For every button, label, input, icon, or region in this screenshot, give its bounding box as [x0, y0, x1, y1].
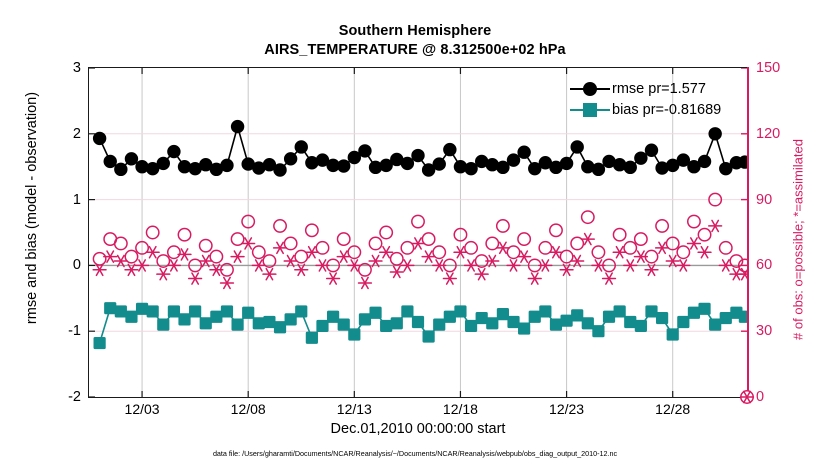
bias-marker — [402, 306, 413, 317]
obs-possible-marker — [168, 246, 180, 258]
bias-marker — [582, 318, 593, 329]
rmse-marker — [284, 153, 296, 165]
obs-possible-marker — [550, 224, 562, 236]
obs-possible-marker — [698, 228, 710, 240]
rmse-marker — [412, 149, 424, 161]
rmse-marker — [274, 164, 286, 176]
rmse-marker — [231, 120, 243, 132]
bias-marker — [444, 311, 455, 322]
obs-possible-marker — [656, 220, 668, 232]
obs-assimilated-marker — [738, 269, 747, 280]
rmse-marker — [560, 157, 572, 169]
bias-marker — [136, 303, 147, 314]
obs-possible-marker — [518, 233, 530, 245]
bias-marker — [105, 303, 116, 314]
obs-possible-marker — [306, 224, 318, 236]
obs-possible-marker — [274, 220, 286, 232]
chart-title: Southern Hemisphere AIRS_TEMPERATURE @ 8… — [0, 22, 830, 60]
bias-marker — [296, 306, 307, 317]
obs-assimilated-marker — [603, 273, 616, 284]
bias-marker — [476, 312, 487, 323]
bias-marker — [359, 314, 370, 325]
bias-marker — [274, 322, 285, 333]
bias-marker — [678, 316, 689, 327]
bias-marker — [455, 306, 466, 317]
obs-possible-marker — [677, 246, 689, 258]
bias-marker — [391, 318, 402, 329]
bias-marker — [572, 310, 583, 321]
rmse-marker — [624, 161, 636, 173]
bias-marker — [656, 312, 667, 323]
rmse-marker — [465, 162, 477, 174]
obs-possible-marker — [497, 220, 509, 232]
rmse-marker — [571, 141, 583, 153]
rmse-marker — [592, 163, 604, 175]
obs-possible-marker — [380, 226, 392, 238]
bias-marker — [465, 320, 476, 331]
bias-marker — [635, 320, 646, 331]
obs-possible-marker — [720, 242, 732, 254]
bias-marker — [625, 316, 636, 327]
legend-item-bias: bias pr=-0.81689 — [570, 99, 721, 120]
obs-assimilated-marker — [698, 247, 711, 258]
bias-marker — [370, 307, 381, 318]
bias-marker — [434, 319, 445, 330]
obs-possible-marker — [369, 237, 381, 249]
bias-marker — [550, 319, 561, 330]
legend-label: bias pr=-0.81689 — [610, 102, 721, 118]
obs-possible-marker — [115, 237, 127, 249]
obs-possible-marker — [125, 250, 137, 262]
bias-marker — [423, 331, 434, 342]
bias-marker — [158, 319, 169, 330]
obs-assimilated-marker — [189, 273, 202, 284]
bias-marker — [699, 303, 710, 314]
x-axis-tick-12-13: 12/13 — [337, 401, 372, 417]
bias-marker — [540, 306, 551, 317]
obs-possible-marker — [146, 226, 158, 238]
bias-marker — [327, 311, 338, 322]
obs-possible-marker — [592, 246, 604, 258]
bias-marker — [200, 318, 211, 329]
obs-assimilated-marker — [263, 269, 276, 280]
obs-possible-marker — [284, 237, 296, 249]
chart-page: Southern Hemisphere AIRS_TEMPERATURE @ 8… — [0, 0, 830, 470]
obs-marker-edge — [737, 387, 757, 407]
obs-assimilated-marker — [507, 260, 520, 271]
bias-marker — [115, 306, 126, 317]
obs-possible-marker — [688, 215, 700, 227]
rmse-marker — [168, 145, 180, 157]
legend-marker-square — [583, 103, 597, 117]
rmse-marker — [338, 160, 350, 172]
obs-possible-marker — [635, 233, 647, 245]
rmse-marker — [359, 145, 371, 157]
bias-marker — [720, 312, 731, 323]
obs-possible-marker — [178, 228, 190, 240]
obs-assimilated-marker — [709, 220, 722, 231]
obs-assimilated-marker — [157, 269, 170, 280]
bias-marker — [179, 314, 190, 325]
bias-marker — [412, 316, 423, 327]
x-axis-tick-12-08: 12/08 — [231, 401, 266, 417]
obs-possible-marker — [338, 233, 350, 245]
bias-marker — [126, 311, 137, 322]
bias-marker — [529, 311, 540, 322]
footer-datafile: data file: /Users/gharamti/Documents/NCA… — [0, 449, 830, 458]
obs-possible-marker — [200, 239, 212, 251]
obs-assimilated-marker — [443, 273, 456, 284]
rmse-marker — [115, 163, 127, 175]
obs-assimilated-marker — [624, 260, 637, 271]
bias-marker — [306, 332, 317, 343]
chart-title-line2: AIRS_TEMPERATURE @ 8.312500e+02 hPa — [0, 41, 830, 60]
rmse-marker — [444, 143, 456, 155]
bias-marker — [497, 308, 508, 319]
rmse-marker — [93, 132, 105, 144]
obs-assimilated-marker — [539, 260, 552, 271]
obs-possible-marker — [433, 246, 445, 258]
right-axis-title: # of obs: o=possible; *=assimilated — [791, 90, 806, 390]
rmse-marker — [401, 157, 413, 169]
bias-marker — [211, 311, 222, 322]
x-axis-tick-12-03: 12/03 — [125, 401, 160, 417]
bias-marker — [381, 320, 392, 331]
bias-marker — [190, 306, 201, 317]
obs-possible-marker — [391, 253, 403, 265]
bias-marker — [667, 329, 678, 340]
bias-marker — [646, 306, 657, 317]
legend-symbol-square — [570, 100, 610, 120]
rmse-marker — [104, 155, 116, 167]
rmse-marker — [507, 154, 519, 166]
bias-marker — [593, 326, 604, 337]
bias-marker — [147, 306, 158, 317]
bias-marker — [94, 337, 105, 348]
obs-possible-marker — [253, 246, 265, 258]
bias-marker — [317, 320, 328, 331]
left-axis-title: rmse and bias (model - observation) — [24, 58, 40, 358]
bias-marker — [487, 318, 498, 329]
bias-marker — [253, 318, 264, 329]
legend-item-rmse: rmse pr=1.577 — [570, 78, 721, 99]
obs-possible-marker — [582, 211, 594, 223]
bias-marker — [614, 306, 625, 317]
x-axis-title: Dec.01,2010 00:00:00 start — [88, 421, 748, 437]
right-axis-tick-150: 150 — [748, 60, 808, 76]
rmse-marker — [698, 155, 710, 167]
obs-possible-marker — [422, 233, 434, 245]
bias-marker — [285, 314, 296, 325]
obs-possible-marker — [210, 250, 222, 262]
bias-marker — [243, 307, 254, 318]
legend-symbol-circle — [570, 79, 610, 99]
right-axis-ticklabels: 1501209060300 — [748, 0, 818, 470]
bias-marker — [688, 307, 699, 318]
obs-possible-marker — [412, 215, 424, 227]
chart-legend: rmse pr=1.577bias pr=-0.81689 — [570, 78, 721, 120]
bias-marker — [519, 323, 530, 334]
bias-marker — [221, 306, 232, 317]
left-axis-tick--2: -2 — [28, 389, 88, 405]
rmse-marker — [645, 144, 657, 156]
bias-marker — [739, 311, 747, 322]
rmse-marker — [295, 141, 307, 153]
chart-title-line1: Southern Hemisphere — [0, 22, 830, 41]
rmse-marker — [739, 156, 747, 168]
rmse-marker — [157, 157, 169, 169]
bias-marker — [232, 319, 243, 330]
rmse-marker — [125, 153, 137, 165]
legend-marker-circle — [583, 82, 597, 96]
x-axis-tick-12-18: 12/18 — [443, 401, 478, 417]
x-axis-tick-12-28: 12/28 — [655, 401, 690, 417]
rmse-marker — [709, 128, 721, 140]
bias-marker — [561, 315, 572, 326]
obs-possible-marker — [613, 228, 625, 240]
obs-possible-marker — [624, 242, 636, 254]
rmse-marker — [221, 159, 233, 171]
rmse-marker — [433, 158, 445, 170]
x-axis-tick-12-23: 12/23 — [549, 401, 584, 417]
right-axis-tick-0: 0 — [748, 389, 808, 405]
rmse-marker — [635, 152, 647, 164]
obs-assimilated-marker — [390, 266, 403, 277]
bias-marker — [338, 319, 349, 330]
obs-assimilated-marker — [231, 251, 244, 262]
obs-possible-marker — [93, 253, 105, 265]
bias-marker — [508, 316, 519, 327]
rmse-marker — [497, 161, 509, 173]
bias-marker — [349, 329, 360, 340]
bias-marker — [710, 319, 721, 330]
obs-possible-marker — [465, 242, 477, 254]
obs-assimilated-marker — [327, 273, 340, 284]
obs-assimilated-marker — [475, 269, 488, 280]
obs-assimilated-marker — [528, 273, 541, 284]
obs-possible-marker — [316, 242, 328, 254]
obs-assimilated-marker — [359, 277, 372, 288]
bias-marker — [603, 311, 614, 322]
bias-marker — [168, 306, 179, 317]
obs-assimilated-marker — [688, 238, 701, 249]
rmse-marker — [518, 146, 530, 158]
legend-label: rmse pr=1.577 — [610, 81, 706, 97]
obs-assimilated-marker — [221, 277, 234, 288]
bias-marker — [264, 316, 275, 327]
